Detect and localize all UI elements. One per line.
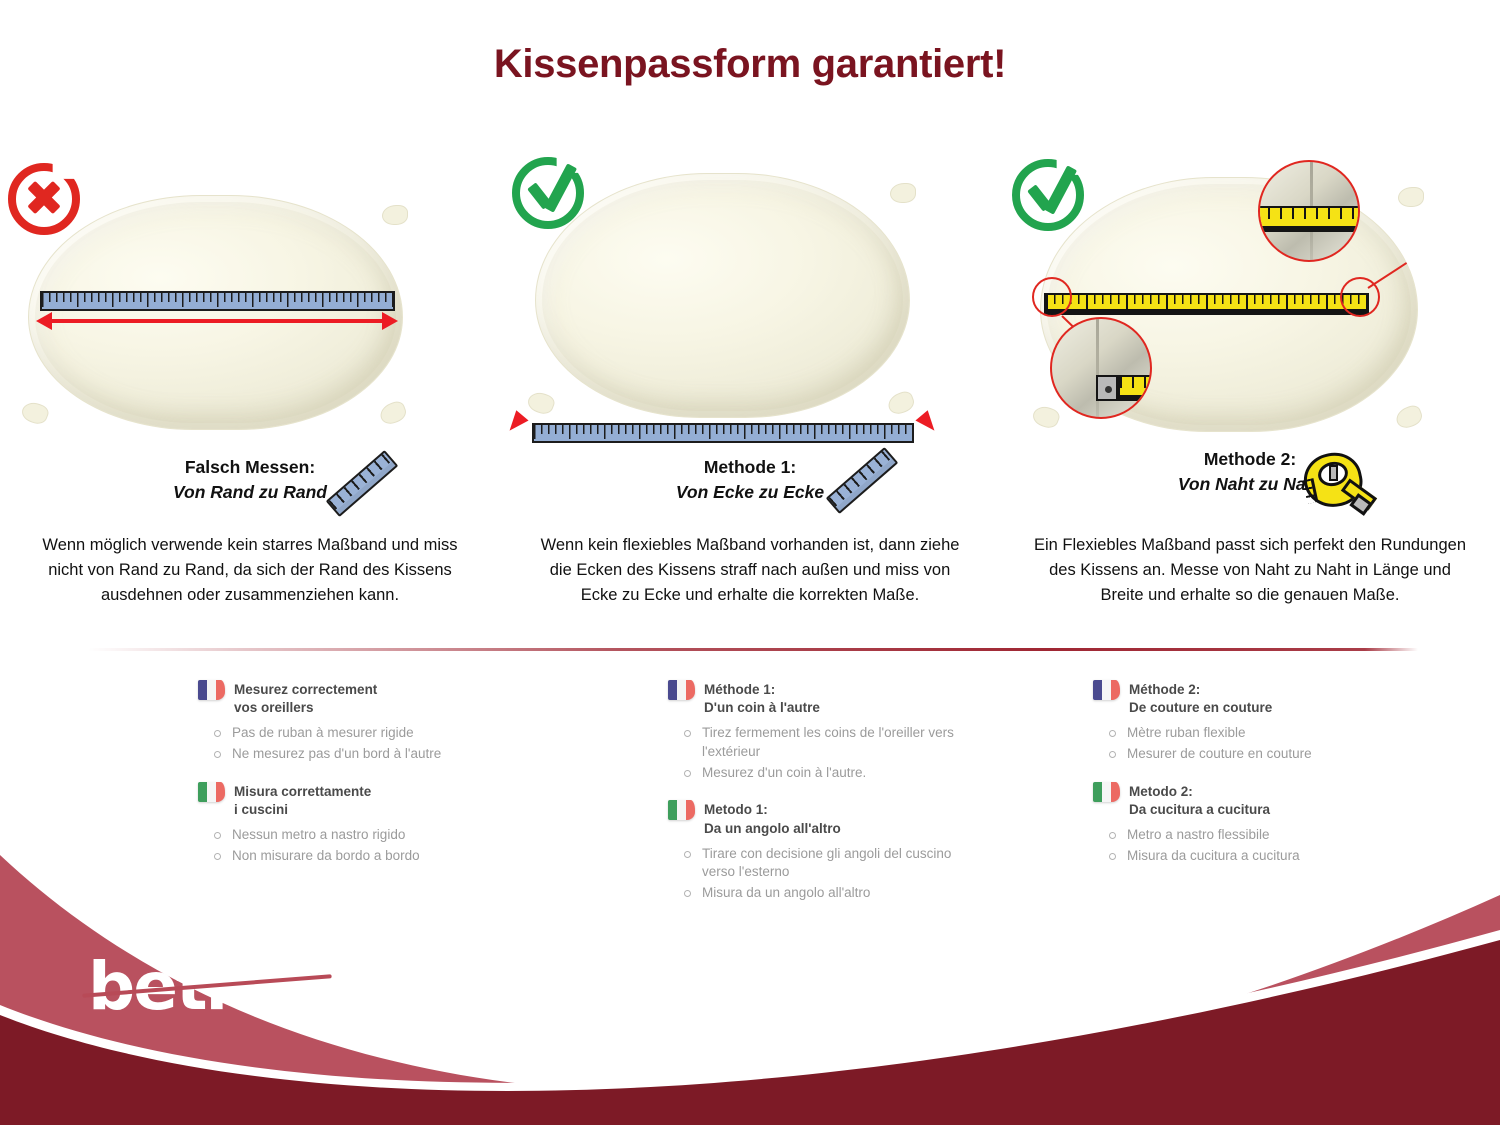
- lang-title-line2: De couture en couture: [1129, 700, 1272, 715]
- pillow-corner-ear: [19, 399, 50, 427]
- italy-flag-icon: [1093, 782, 1120, 802]
- heading-main: Falsch Messen:: [0, 455, 500, 480]
- pillow-corner-ear: [890, 183, 916, 203]
- section-divider: [88, 648, 1418, 651]
- lang-group-fr-3: Méthode 2: De couture en couture Mètre r…: [1093, 680, 1403, 764]
- corner-arrow-right: [915, 410, 940, 436]
- lang-title: Metodo 1: Da un angolo all'altro: [704, 800, 841, 837]
- lang-group-fr-2: Méthode 1: D'un coin à l'autre Tirez fer…: [668, 680, 978, 782]
- lang-title-line2: D'un coin à l'autre: [704, 700, 820, 715]
- ruler-major-ticks: [534, 425, 912, 439]
- corner-arrow-left: [503, 410, 528, 436]
- italy-flag-icon: [198, 782, 225, 802]
- heading-block-2: Methode 1: Von Ecke zu Ecke: [500, 455, 1000, 505]
- lang-title-line1: Metodo 2:: [1129, 784, 1193, 799]
- heading-sub: Von Rand zu Rand: [0, 480, 500, 505]
- pillow-seam-line: [1096, 319, 1099, 417]
- check-mark-icon: [1012, 159, 1084, 231]
- callout-tape-segment: [1258, 206, 1360, 232]
- page-title: Kissenpassform garantiert!: [0, 42, 1500, 87]
- seam-callout-top: [1258, 160, 1360, 262]
- tape-hotspot-right-circle: [1340, 277, 1380, 317]
- tape-end-clip: [1096, 375, 1118, 401]
- france-flag-icon: [668, 680, 695, 700]
- measure-arrow-line: [52, 319, 382, 323]
- lang-title-line2: Da un angolo all'altro: [704, 821, 841, 836]
- pillow-corner-ear: [525, 389, 556, 417]
- column-falsch-messen: Falsch Messen: Von Rand zu Rand Wenn mög…: [0, 155, 500, 640]
- lang-title: Metodo 2: Da cucitura a cucitura: [1129, 782, 1270, 819]
- x-mark-icon: [8, 163, 80, 235]
- lang-heading: Mesurez correctement vos oreillers: [198, 680, 498, 717]
- list-item: Ne mesurez pas d'un bord à l'autre: [210, 745, 498, 764]
- check-glyph: [524, 163, 580, 219]
- blue-ruler-strip: [532, 423, 914, 443]
- lang-title-line2: i cuscini: [234, 802, 288, 817]
- blue-ruler-strip: [40, 291, 395, 311]
- lang-heading: Metodo 2: Da cucitura a cucitura: [1093, 782, 1403, 819]
- pillow-image: [535, 173, 910, 418]
- tape-clip-rivet: [1105, 386, 1112, 393]
- blue-ruler-icon: [320, 455, 398, 525]
- tape-baseline: [1046, 309, 1367, 313]
- lang-heading: Metodo 1: Da un angolo all'altro: [668, 800, 978, 837]
- lang-title-line1: Mesurez correctement: [234, 682, 377, 697]
- method-columns: Falsch Messen: Von Rand zu Rand Wenn mög…: [0, 155, 1500, 640]
- lang-bullets: Tirez fermement les coins de l'oreiller …: [680, 724, 978, 782]
- lang-title-line1: Méthode 1:: [704, 682, 775, 697]
- lang-title-line2: Da cucitura a cucitura: [1129, 802, 1270, 817]
- measure-arrow-head-right: [382, 312, 398, 330]
- heading-sub: Von Naht zu Naht: [1000, 472, 1500, 497]
- ruler-stick: [326, 450, 399, 517]
- ruler-stick: [826, 447, 899, 514]
- pillow-corner-ear: [377, 399, 408, 427]
- multilingual-section: Mesurez correctement vos oreillers Pas d…: [0, 680, 1500, 860]
- lang-bullets: Mètre ruban flexible Mesurer de couture …: [1105, 724, 1403, 763]
- column-methode-2: Methode 2: Von Naht zu Naht Ein Flexiebl…: [1000, 155, 1500, 640]
- list-item: Tirez fermement les coins de l'oreiller …: [680, 724, 978, 761]
- x-glyph: [22, 175, 66, 219]
- yellow-tape-strip: [1044, 293, 1369, 315]
- pillow-corner-ear: [1393, 403, 1424, 431]
- heading-sub: Von Ecke zu Ecke: [500, 480, 1000, 505]
- lang-title-line1: Misura correttamente: [234, 784, 371, 799]
- tape-hotspot-left-circle: [1032, 277, 1072, 317]
- list-item: Mètre ruban flexible: [1105, 724, 1403, 743]
- pillow-corner-ear: [1398, 187, 1424, 207]
- ruler-stick-ticks: [328, 453, 391, 510]
- lang-title-line1: Méthode 2:: [1129, 682, 1200, 697]
- list-item: Mesurer de couture en couture: [1105, 745, 1403, 764]
- pillow-corner-ear: [382, 205, 408, 225]
- lang-title-line2: vos oreillers: [234, 700, 314, 715]
- tape-major-ticks: [1046, 295, 1367, 310]
- lang-title: Méthode 1: D'un coin à l'autre: [704, 680, 820, 717]
- lang-title-line1: Metodo 1:: [704, 802, 768, 817]
- france-flag-icon: [1093, 680, 1120, 700]
- column-methode-1: Methode 1: Von Ecke zu Ecke Wenn kein fl…: [500, 155, 1000, 640]
- pillow-illustration-corner: [500, 155, 1000, 445]
- heading-block-1: Falsch Messen: Von Rand zu Rand: [0, 455, 500, 505]
- italy-flag-icon: [668, 800, 695, 820]
- ruler-major-ticks: [42, 293, 393, 307]
- callout-tape-baseline: [1258, 226, 1360, 230]
- seam-callout-bottom: [1050, 317, 1152, 419]
- measure-arrow-head-left: [36, 312, 52, 330]
- yellow-tape-measure-icon: [1300, 449, 1376, 521]
- heading-main: Methode 2:: [1000, 447, 1500, 472]
- lang-bullets: Pas de ruban à mesurer rigide Ne mesurez…: [210, 724, 498, 763]
- pillow-image: [28, 195, 403, 430]
- lang-heading: Méthode 1: D'un coin à l'autre: [668, 680, 978, 717]
- check-glyph: [1024, 165, 1080, 221]
- callout-tape-segment: [1118, 375, 1152, 401]
- list-item: Pas de ruban à mesurer rigide: [210, 724, 498, 743]
- list-item: Mesurez d'un coin à l'autre.: [680, 764, 978, 783]
- ruler-stick-ticks: [828, 450, 891, 507]
- brand-banner: beties: [0, 835, 1500, 1125]
- lang-heading: Méthode 2: De couture en couture: [1093, 680, 1403, 717]
- lang-title: Mesurez correctement vos oreillers: [234, 680, 377, 717]
- callout-tape-baseline: [1120, 395, 1152, 399]
- check-mark-icon: [512, 157, 584, 229]
- body-text-2: Wenn kein flexiebles Maßband vorhanden i…: [500, 533, 1000, 609]
- body-text-1: Wenn möglich verwende kein starres Maßba…: [0, 533, 500, 609]
- heading-main: Methode 1:: [500, 455, 1000, 480]
- pillow-corner-ear: [1030, 403, 1061, 431]
- pillow-illustration-wrong: [0, 155, 500, 445]
- heading-block-3: Methode 2: Von Naht zu Naht: [1000, 447, 1500, 497]
- tape-reel-hub: [1329, 465, 1338, 481]
- france-flag-icon: [198, 680, 225, 700]
- lang-group-fr-1: Mesurez correctement vos oreillers Pas d…: [198, 680, 498, 764]
- lang-title: Méthode 2: De couture en couture: [1129, 680, 1272, 717]
- lang-title: Misura correttamente i cuscini: [234, 782, 371, 819]
- body-text-3: Ein Flexiebles Maßband passt sich perfek…: [1000, 533, 1500, 609]
- pillow-illustration-seam: [1000, 155, 1500, 445]
- lang-heading: Misura correttamente i cuscini: [198, 782, 498, 819]
- blue-ruler-icon: [820, 452, 898, 522]
- pillow-corner-ear: [885, 389, 916, 417]
